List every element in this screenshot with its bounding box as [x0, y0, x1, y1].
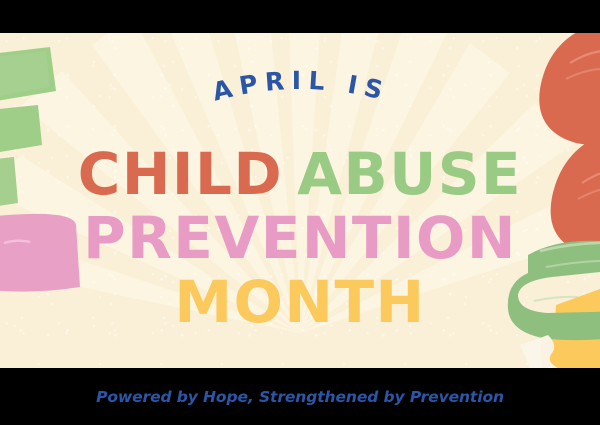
headline-line-2: PREVENTION	[0, 209, 600, 267]
poster-canvas: APRIL IS CHILDABUSE PREVENTION MONTH Pow…	[0, 0, 600, 425]
headline-word-month: MONTH	[174, 268, 425, 336]
headline-word-abuse: ABUSE	[297, 140, 522, 208]
eyebrow-label: APRIL IS	[210, 66, 393, 107]
tagline-band: Powered by Hope, Strengthened by Prevent…	[0, 368, 600, 425]
headline-line-3: MONTH	[0, 273, 600, 331]
tagline-text: Powered by Hope, Strengthened by Prevent…	[96, 388, 504, 406]
headline-word-child: CHILD	[78, 140, 283, 208]
poster-card: APRIL IS CHILDABUSE PREVENTION MONTH	[0, 33, 600, 368]
eyebrow-arc-text: APRIL IS	[0, 55, 600, 125]
headline-word-prevention: PREVENTION	[83, 204, 517, 272]
svg-text:APRIL IS: APRIL IS	[210, 66, 393, 107]
headline-line-1: CHILDABUSE	[0, 145, 600, 203]
